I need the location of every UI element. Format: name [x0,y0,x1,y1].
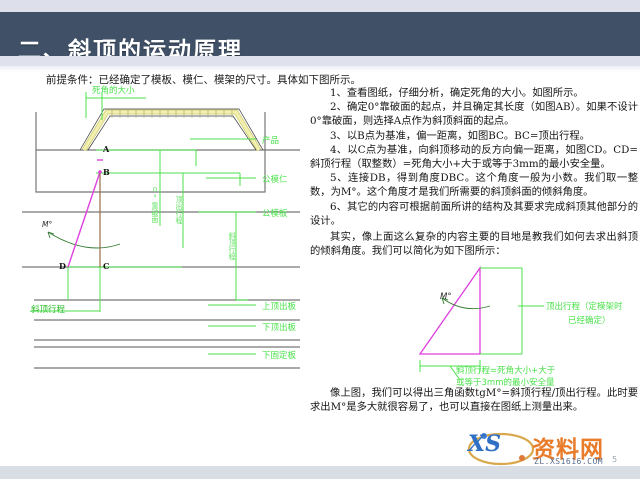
label-lower-ejector-plate: 下顶出板 [262,321,296,333]
label-ejection-stroke: 顶出行程 [174,196,184,224]
paragraph-xiangshangtu: 像上图，我们可以得出三角函数tgM°=斜顶行程/顶出行程。此时要求出M°是多大就… [310,386,638,414]
label-bottom-clamp-plate: 下固定板 [262,349,296,361]
step-5: 5、连接DB，得到角度DBC。这个角度一般为小数。我们取一整数，为M°。这个角度… [310,171,638,199]
step-4: 4、以C点为基准，向斜顶移动的反方向偏一距离，如图CD。CD=斜顶行程（取整数）… [310,143,638,171]
watermark-mark: XS [468,431,501,457]
step-2: 2、确定0°靠破面的起点，并且确定其长度（如图AB）。如果不设计0°靠破面，则选… [310,100,638,128]
point-label-a: A [103,144,109,154]
figure2-angle-label: M° [440,292,452,302]
figure2-ejection-stroke-line1: 顶出行程（定模架时 [546,300,623,312]
paragraph-xiangshangtu-text: 像上图，我们可以得出三角函数tgM°=斜顶行程/顶出行程。此时要求出M°是多大就… [310,386,638,414]
engineering-drawing: 死角的大小 产品 公模仁 公模板 上顶出板 下顶出板 下固定板 0°靠破面 顶出… [0,0,320,420]
label-lifter-stroke: 斜顶行程 [31,303,65,315]
watermark-url: ZL.XS1616.COM [534,457,603,466]
paragraph-shiji: 其实，像上面这么复杂的内容主要的目地是教我们如何去求出斜顶的倾斜角度。我们可以简… [310,230,638,258]
figure2-lifter-stroke-line1: 斜顶行程=死角大小+大于 [456,364,555,376]
step-1: 1、查看图纸，仔细分析，确定死角的大小。如图所示。 [310,86,638,100]
page-number: 5 [612,455,617,464]
label-dead-corner-size: 死角的大小 [92,84,135,96]
step-6: 6、其它的内容可根据前面所讲的结构及其要求完成斜顶其他部分的设计。 [310,200,638,228]
paragraph-shiji-text: 其实，像上面这么复杂的内容主要的目地是教我们如何去求出斜顶的倾斜角度。我们可以简… [310,230,638,258]
simplified-triangle-figure: M° 顶出行程（定模架时 已经确定） 斜顶行程=死角大小+大于 或等于3mm的最… [398,262,640,384]
label-product: 产品 [262,134,279,146]
bottom-strip [0,466,640,479]
step-3: 3、以B点为基准，偏一距离，如图BC。BC=顶出行程。 [310,129,638,143]
point-label-d: D [59,261,66,271]
angle-label-m: M° [42,220,52,229]
label-lifter-stroke-vertical: 斜顶行程 [227,232,237,260]
point-label-b: B [103,167,110,177]
label-upper-ejector-plate: 上顶出板 [262,300,296,312]
steps-list: 1、查看图纸，仔细分析，确定死角的大小。如图所示。 2、确定0°靠破面的起点，并… [310,86,638,228]
figure2-ejection-stroke-line2: 已经确定） [568,314,611,326]
point-label-c: C [103,261,109,271]
label-core-plate: 公模板 [262,207,288,219]
label-zero-degree-face: 0°靠破面 [150,186,160,223]
label-core-insert: 公模仁 [262,173,288,185]
slide-page: 二、斜顶的运动原理 前提条件：已经确定了模板、模仁、模架的尺寸。具体如下图所示。 [0,0,640,479]
